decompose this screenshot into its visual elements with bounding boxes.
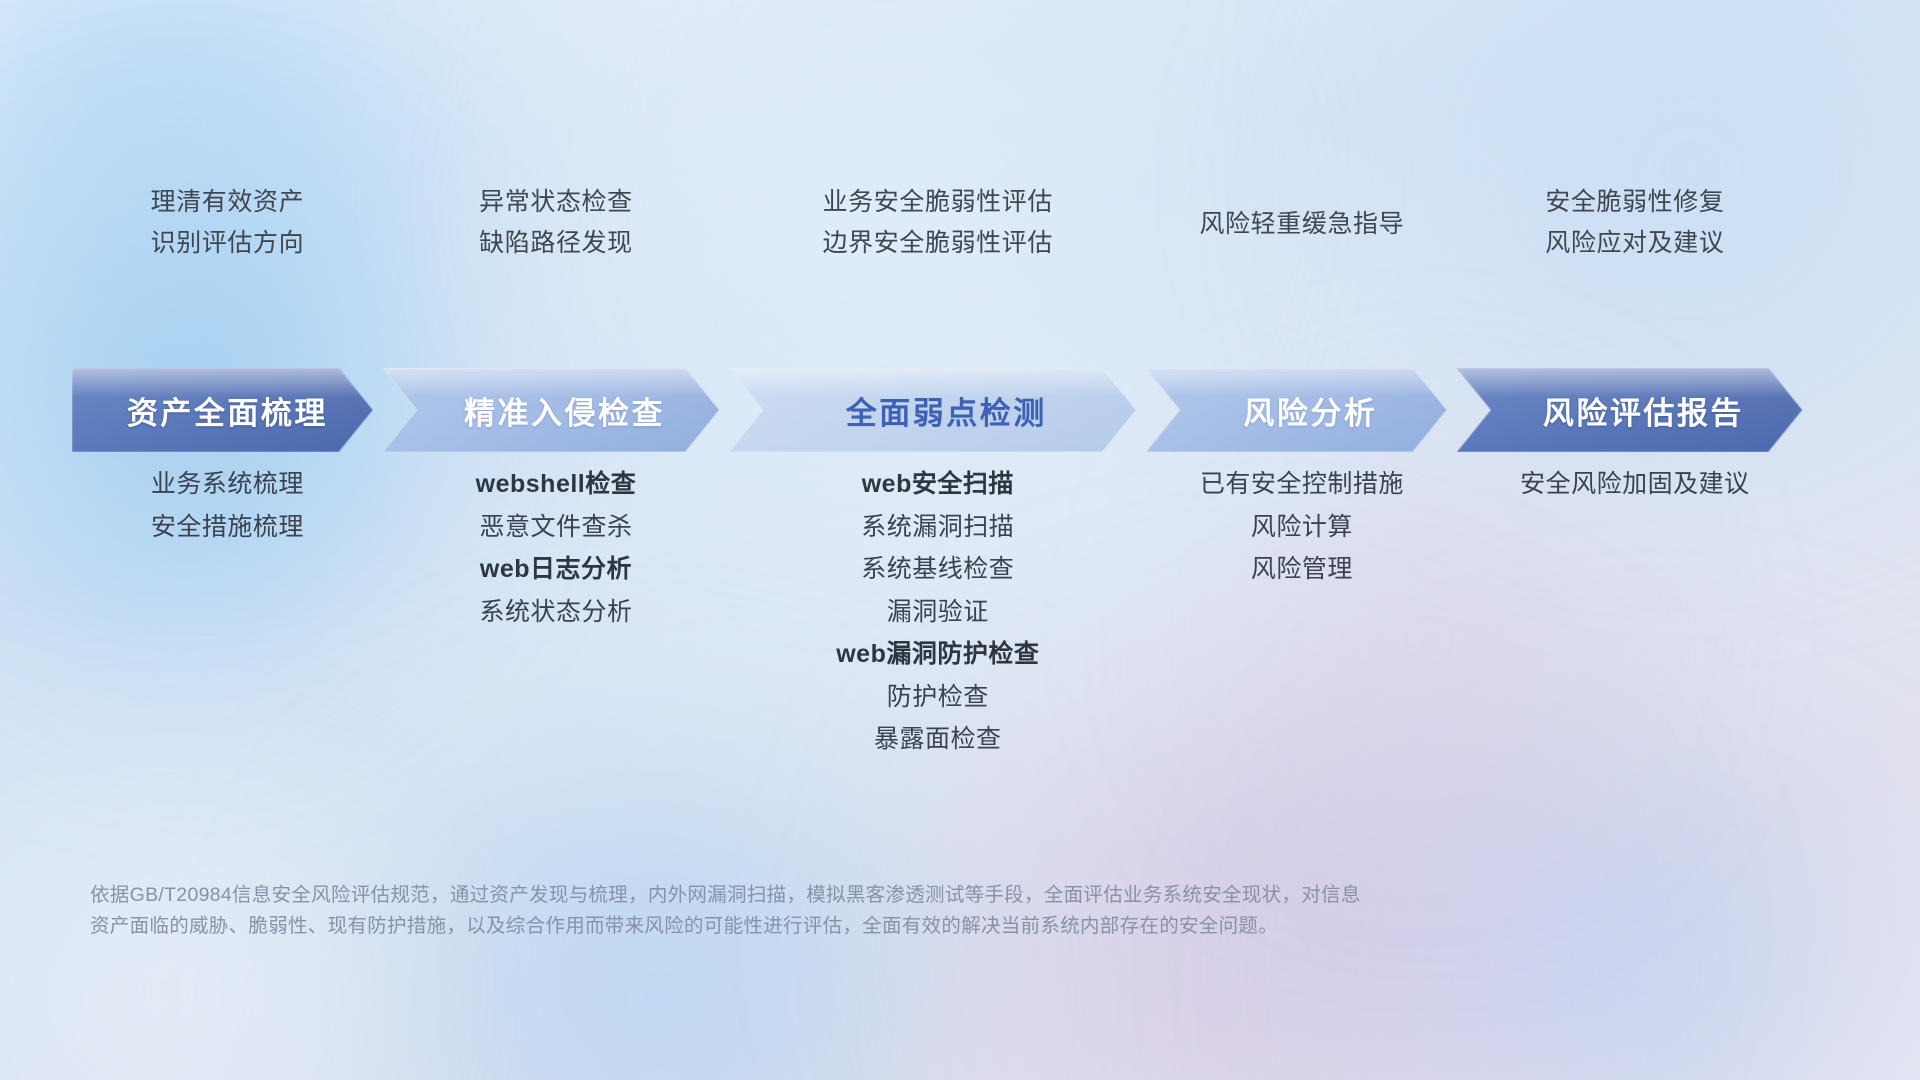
stage-activity-item: 防护检查 — [887, 681, 989, 714]
stage-outcomes-intrusion-check: 异常状态检查缺陷路径发现 — [383, 186, 729, 296]
stage-activities-asset-inventory: 业务系统梳理安全措施梳理 — [72, 468, 383, 756]
process-step-intrusion-check[interactable]: 精准入侵检查 — [383, 368, 729, 452]
diagram-content: 理清有效资产识别评估方向异常状态检查缺陷路径发现业务安全脆弱性评估边界安全脆弱性… — [0, 0, 1920, 1080]
process-step-weakness-detection[interactable]: 全面弱点检测 — [729, 368, 1146, 452]
process-arrow-band: 资产全面梳理精准入侵检查全面弱点检测风险分析风险评估报告 — [72, 368, 1848, 452]
stage-activity-item: 已有安全控制措施 — [1200, 468, 1404, 501]
stage-outcome-label: 缺陷路径发现 — [479, 227, 633, 259]
stage-outcome-label: 业务安全脆弱性评估 — [823, 186, 1053, 218]
stage-activity-item: 系统状态分析 — [479, 596, 632, 629]
slide-canvas: 理清有效资产识别评估方向异常状态检查缺陷路径发现业务安全脆弱性评估边界安全脆弱性… — [0, 0, 1920, 1080]
process-step-label: 风险分析 — [1243, 388, 1377, 433]
stage-activity-item: web安全扫描 — [862, 468, 1014, 501]
stage-activity-item: 系统基线检查 — [861, 553, 1014, 586]
process-step-label: 精准入侵检查 — [464, 388, 665, 433]
stage-activity-item: 风险管理 — [1251, 553, 1353, 586]
stage-outcomes-risk-report: 安全脆弱性修复风险应对及建议 — [1457, 186, 1812, 296]
process-step-asset-inventory[interactable]: 资产全面梳理 — [72, 368, 383, 452]
stage-outcomes-risk-analysis: 风险轻重缓急指导 — [1146, 186, 1457, 296]
stage-activity-item: 安全风险加固及建议 — [1520, 468, 1750, 501]
stage-activity-item: 风险计算 — [1251, 511, 1353, 544]
stage-activity-item: web漏洞防护检查 — [836, 638, 1039, 671]
stage-activities-row: 业务系统梳理安全措施梳理webshell检查恶意文件查杀web日志分析系统状态分… — [72, 468, 1848, 756]
process-step-label: 资产全面梳理 — [127, 388, 328, 433]
stage-activity-item: 漏洞验证 — [887, 596, 989, 629]
process-step-label: 风险评估报告 — [1543, 388, 1744, 433]
stage-activity-item: 安全措施梳理 — [151, 511, 304, 544]
stage-outcome-label: 风险轻重缓急指导 — [1199, 208, 1404, 240]
stage-outcome-label: 理清有效资产 — [151, 186, 305, 218]
process-step-risk-analysis[interactable]: 风险分析 — [1146, 368, 1457, 452]
stage-activity-item: 业务系统梳理 — [151, 468, 304, 501]
stage-activities-risk-report: 安全风险加固及建议 — [1457, 468, 1812, 756]
footer-line-1: 依据GB/T20984信息安全风险评估规范，通过资产发现与梳理，内外网漏洞扫描，… — [90, 880, 1750, 911]
stage-activity-item: 暴露面检查 — [874, 723, 1002, 756]
stage-activity-item: web日志分析 — [480, 553, 632, 586]
stage-outcome-label: 风险应对及建议 — [1545, 227, 1724, 259]
stage-activities-weakness-detection: web安全扫描系统漏洞扫描系统基线检查漏洞验证web漏洞防护检查防护检查暴露面检… — [729, 468, 1146, 756]
stage-outcomes-weakness-detection: 业务安全脆弱性评估边界安全脆弱性评估 — [729, 186, 1146, 296]
footer-line-2: 资产面临的威胁、脆弱性、现有防护措施，以及综合作用而带来风险的可能性进行评估，全… — [90, 911, 1750, 942]
stage-activity-item: webshell检查 — [476, 468, 637, 501]
stage-activity-item: 系统漏洞扫描 — [861, 511, 1014, 544]
footer-description: 依据GB/T20984信息安全风险评估规范，通过资产发现与梳理，内外网漏洞扫描，… — [90, 880, 1750, 942]
stage-outcome-label: 异常状态检查 — [479, 186, 633, 218]
stage-outcomes-row: 理清有效资产识别评估方向异常状态检查缺陷路径发现业务安全脆弱性评估边界安全脆弱性… — [72, 186, 1848, 296]
stage-activities-risk-analysis: 已有安全控制措施风险计算风险管理 — [1146, 468, 1457, 756]
stage-activity-item: 恶意文件查杀 — [479, 511, 632, 544]
process-step-risk-report[interactable]: 风险评估报告 — [1457, 368, 1812, 452]
stage-outcomes-asset-inventory: 理清有效资产识别评估方向 — [72, 186, 383, 296]
stage-activities-intrusion-check: webshell检查恶意文件查杀web日志分析系统状态分析 — [383, 468, 729, 756]
stage-outcome-label: 识别评估方向 — [151, 227, 305, 259]
stage-outcome-label: 安全脆弱性修复 — [1545, 186, 1724, 218]
process-step-label: 全面弱点检测 — [846, 388, 1047, 433]
stage-outcome-label: 边界安全脆弱性评估 — [823, 227, 1053, 259]
